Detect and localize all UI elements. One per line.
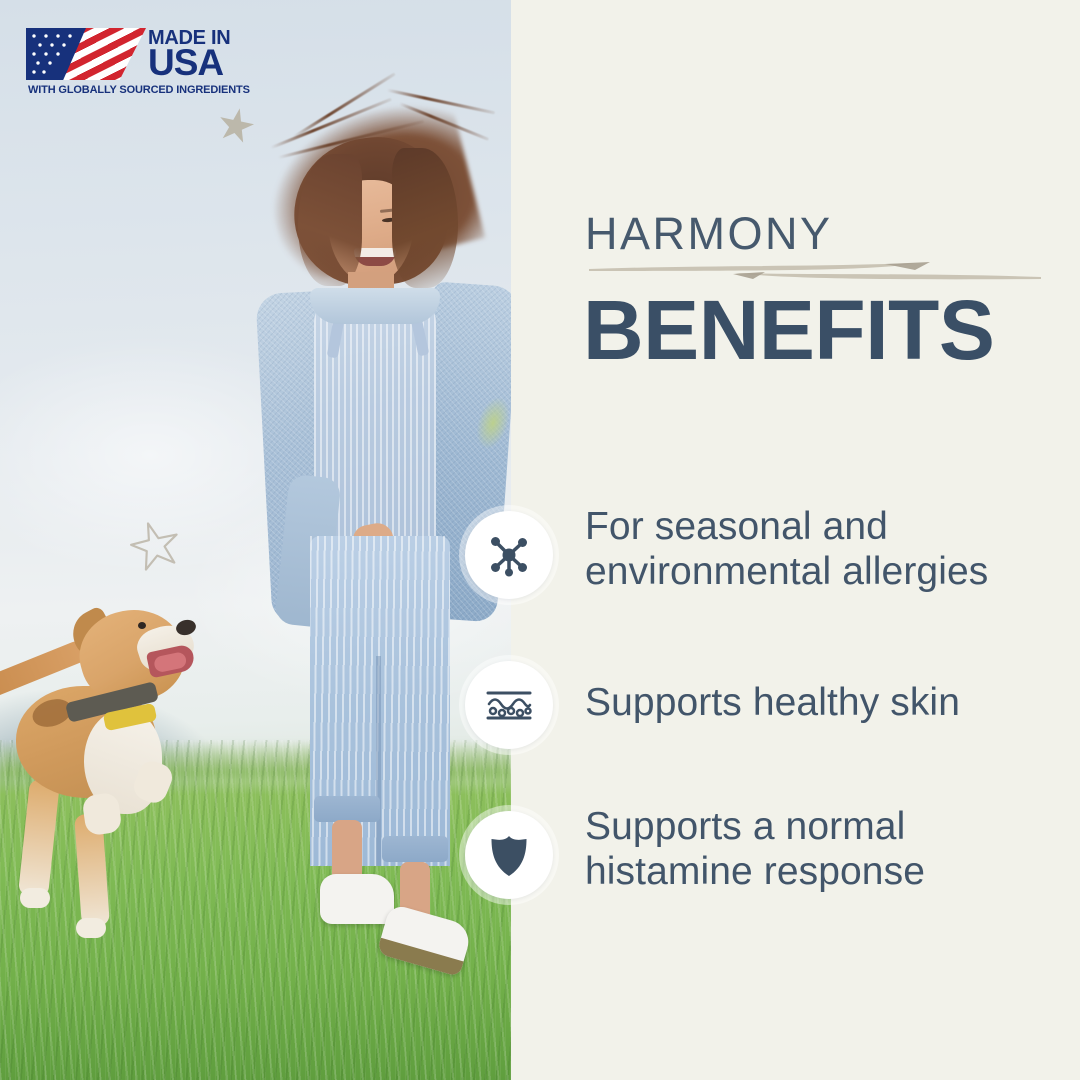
pant-cuff-right xyxy=(382,836,448,862)
dog-eye xyxy=(138,622,146,629)
benefits-panel: HARMONY BENEFITS xyxy=(511,0,1080,1080)
pant-cuff-left xyxy=(314,796,380,822)
benefits-infographic: MADE IN USA WITH GLOBALLY SOURCED INGRED… xyxy=(0,0,1080,1080)
dog-foot-left xyxy=(20,888,50,908)
usa-flag-icon xyxy=(26,28,146,80)
dog-hind-leg-left xyxy=(18,779,60,898)
page-title: BENEFITS xyxy=(583,288,994,372)
benefit-icon-circle-2 xyxy=(465,661,553,749)
shin-left xyxy=(332,820,362,882)
jacket-collar xyxy=(310,288,440,324)
ornamental-divider xyxy=(585,258,1045,284)
benefit-text-2: Supports healthy skin xyxy=(585,680,1055,725)
molecule-icon xyxy=(484,530,534,580)
benefit-icon-circle-1 xyxy=(465,511,553,599)
product-name-eyebrow: HARMONY xyxy=(585,211,833,256)
badge-usa-text: USA xyxy=(148,44,223,81)
made-in-usa-badge: MADE IN USA WITH GLOBALLY SOURCED INGRED… xyxy=(26,26,241,96)
dog-foot-right xyxy=(76,918,106,938)
dog-tongue xyxy=(153,651,188,673)
skin-layers-icon xyxy=(484,680,534,730)
benefit-text-3: Supports a normal histamine response xyxy=(585,804,1055,894)
benefit-icon-container-2 xyxy=(459,655,559,755)
dog-figure xyxy=(0,600,218,1030)
benefit-icon-circle-3 xyxy=(465,811,553,899)
benefit-icon-container-3 xyxy=(459,805,559,905)
leg-seam xyxy=(376,656,381,866)
benefit-icon-container-1 xyxy=(459,505,559,605)
sneaker-left xyxy=(320,874,394,924)
shield-icon xyxy=(484,830,534,880)
hair-front-left xyxy=(298,154,362,286)
hero-photo: MADE IN USA WITH GLOBALLY SOURCED INGRED… xyxy=(0,0,511,1080)
benefit-text-1: For seasonal and environmental allergies xyxy=(585,504,1055,594)
dog-paw-front-2 xyxy=(81,792,122,837)
badge-subtitle-text: WITH GLOBALLY SOURCED INGREDIENTS xyxy=(28,84,250,96)
